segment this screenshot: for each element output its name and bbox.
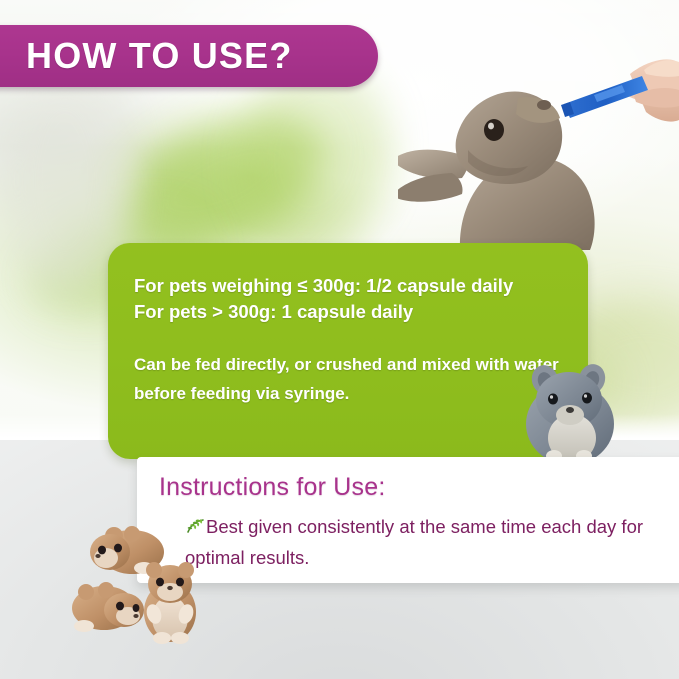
instructions-title: Instructions for Use: — [159, 473, 386, 502]
instructions-body-row: Best given consistently at the same time… — [185, 513, 679, 572]
how-to-use-banner: HOW TO USE? — [0, 25, 378, 87]
page-title: HOW TO USE? — [26, 38, 293, 74]
hamster-shape — [144, 562, 196, 644]
dosage-card: For pets weighing ≤ 300g: 1/2 capsule da… — [108, 243, 588, 459]
hamsters-photo — [62, 522, 208, 648]
hamster-shape — [72, 582, 144, 632]
instructions-body-text: Best given consistently at the same time… — [185, 516, 643, 568]
dosage-line-2: For pets > 300g: 1 capsule daily — [134, 299, 562, 325]
poster-canvas: HOW TO USE? For pets weighing ≤ 300g: 1/… — [0, 0, 679, 679]
instructions-card: Instructions for Use: Best given consist… — [137, 457, 679, 583]
rabbit-feeding-photo — [398, 0, 679, 250]
feeding-method-text: Can be fed directly, or crushed and mixe… — [134, 350, 562, 410]
chinchilla-photo — [518, 358, 624, 466]
dosage-line-1: For pets weighing ≤ 300g: 1/2 capsule da… — [134, 273, 562, 299]
